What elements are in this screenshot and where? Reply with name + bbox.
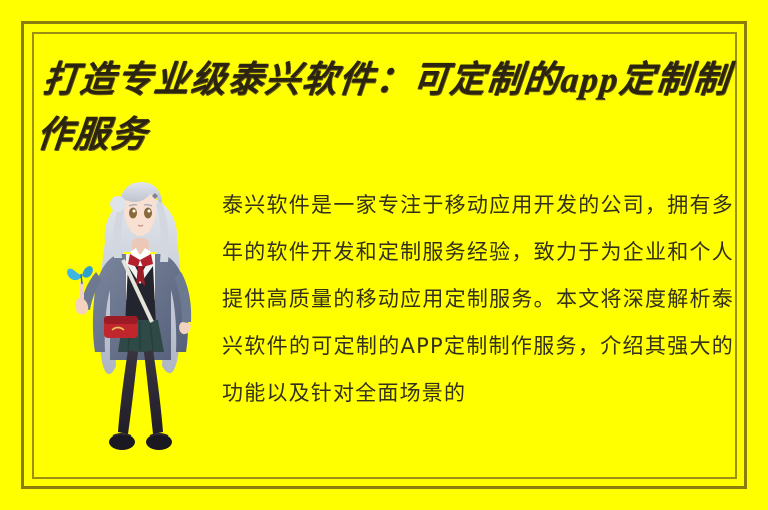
left-eye-highlight bbox=[133, 210, 136, 213]
right-eye-highlight bbox=[148, 210, 151, 213]
body-paragraph: 泰兴软件是一家专注于移动应用开发的公司，拥有多年的软件开发和定制服务经验，致力于… bbox=[222, 182, 734, 417]
left-shoe bbox=[109, 434, 135, 450]
right-hand bbox=[179, 322, 191, 334]
left-eye bbox=[129, 208, 137, 219]
right-shoe bbox=[146, 434, 172, 450]
page-title: 打造专业级泰兴软件：可定制的app定制制作服务 bbox=[34, 52, 736, 163]
poster-canvas: 打造专业级泰兴软件：可定制的app定制制作服务 泰兴软件是一家专注于移动应用开发… bbox=[0, 0, 768, 510]
finger-pointing bbox=[80, 282, 84, 302]
anime-girl-illustration bbox=[56, 180, 224, 470]
character-artwork bbox=[56, 180, 224, 470]
right-eye bbox=[144, 208, 152, 219]
handbag-flap bbox=[104, 316, 138, 324]
left-leg bbox=[118, 350, 138, 434]
hair-bun bbox=[110, 196, 126, 212]
right-leg bbox=[144, 350, 163, 434]
butterfly-icon bbox=[67, 266, 93, 284]
